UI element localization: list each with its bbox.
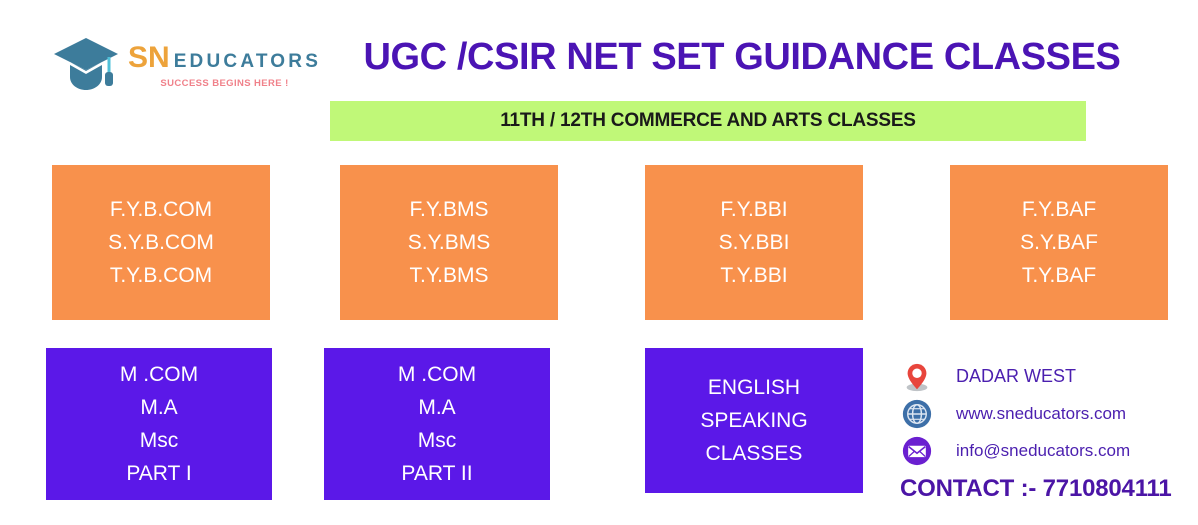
brand-wordmark: SN EDUCATORS SUCCESS BEGINS HERE ! [128,41,321,89]
contact-location-text: DADAR WEST [956,366,1076,387]
map-pin-icon [900,360,934,394]
degree-line: T.Y.BBI [720,259,787,292]
postgrad-box-part-ii[interactable]: M .COM M.A Msc PART II [324,348,550,500]
contact-website-row[interactable]: www.sneducators.com [900,395,1190,432]
degree-line: T.Y.B.COM [110,259,212,292]
postgrad-line: SPEAKING [700,404,807,437]
postgrad-line: M .COM [120,358,198,391]
contact-email-row[interactable]: info@sneducators.com [900,432,1190,469]
postgrad-line: M .COM [398,358,476,391]
postgrad-line: PART I [126,457,191,490]
postgrad-line: M.A [140,391,177,424]
postgrad-line: CLASSES [706,437,803,470]
degree-line: F.Y.BAF [1022,193,1096,226]
brand-name-secondary: EDUCATORS [174,51,321,73]
degree-box-baf[interactable]: F.Y.BAF S.Y.BAF T.Y.BAF [950,165,1168,320]
degree-box-bcom[interactable]: F.Y.B.COM S.Y.B.COM T.Y.B.COM [52,165,270,320]
contact-website-text[interactable]: www.sneducators.com [956,404,1126,424]
degree-line: S.Y.BBI [719,226,790,259]
degree-line: F.Y.B.COM [110,193,212,226]
brand-logo: SN EDUCATORS SUCCESS BEGINS HERE ! [52,28,352,100]
degree-line: S.Y.B.COM [108,226,214,259]
contact-location-row: DADAR WEST [900,358,1190,395]
postgrad-line: Msc [140,424,179,457]
postgrad-box-english-speaking[interactable]: ENGLISH SPEAKING CLASSES [645,348,863,493]
page-title: UGC /CSIR NET SET GUIDANCE CLASSES [352,36,1132,79]
degree-line: S.Y.BAF [1020,226,1098,259]
degree-line: F.Y.BMS [410,193,489,226]
school-classes-banner-label: 11TH / 12TH COMMERCE AND ARTS CLASSES [500,110,916,132]
degree-box-bms[interactable]: F.Y.BMS S.Y.BMS T.Y.BMS [340,165,558,320]
brand-tagline: SUCCESS BEGINS HERE ! [128,78,321,89]
degree-line: T.Y.BAF [1022,259,1096,292]
brand-name-primary: SN [128,41,170,75]
envelope-icon [900,434,934,468]
contact-panel: DADAR WEST www.sneducators.com info@sned [900,358,1190,513]
postgrad-box-part-i[interactable]: M .COM M.A Msc PART I [46,348,272,500]
globe-icon [900,397,934,431]
brand-name-line: SN EDUCATORS [128,41,321,75]
contact-email-text[interactable]: info@sneducators.com [956,441,1130,461]
degree-box-bbi[interactable]: F.Y.BBI S.Y.BBI T.Y.BBI [645,165,863,320]
postgrad-line: Msc [418,424,457,457]
school-classes-banner: 11TH / 12TH COMMERCE AND ARTS CLASSES [330,101,1086,141]
graduation-cap-icon [52,35,122,93]
degree-line: T.Y.BMS [410,259,489,292]
postgrad-line: M.A [418,391,455,424]
contact-phone-text[interactable]: CONTACT :- 7710804111 [900,475,1190,503]
postgrad-line: PART II [401,457,472,490]
postgrad-line: ENGLISH [708,371,800,404]
degree-line: S.Y.BMS [408,226,490,259]
degree-line: F.Y.BBI [720,193,787,226]
